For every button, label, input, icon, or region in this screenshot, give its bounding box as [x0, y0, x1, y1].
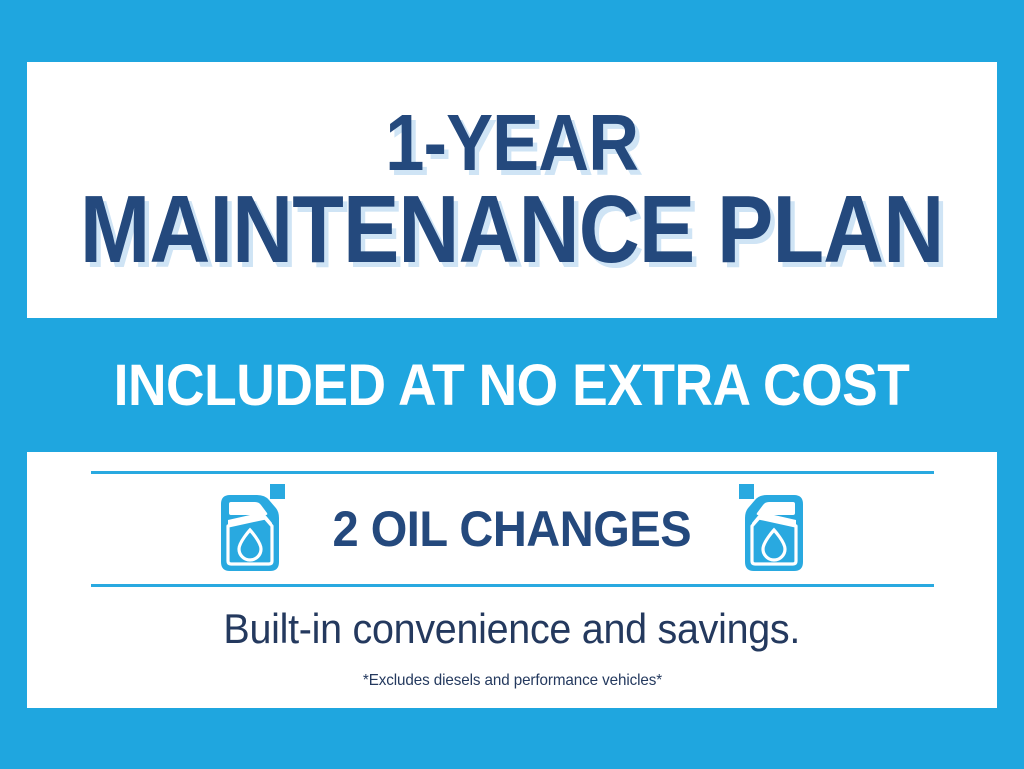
- disclaimer: *Excludes diesels and performance vehicl…: [362, 672, 661, 690]
- tagline: Built-in convenience and savings.: [224, 605, 801, 653]
- title-line-1: 1-YEAR: [386, 106, 639, 180]
- detail-card: 2 OIL CHANGES Built-in convenience and s…: [27, 452, 997, 708]
- oil-can-icon-left: [215, 482, 287, 576]
- title-line-2: MAINTENANCE PLAN: [80, 186, 944, 274]
- maintenance-plan-poster: 1-YEAR MAINTENANCE PLAN INCLUDED AT NO E…: [0, 0, 1024, 769]
- subtitle-band: INCLUDED AT NO EXTRA COST: [0, 318, 1024, 452]
- subtitle-text: INCLUDED AT NO EXTRA COST: [114, 352, 910, 419]
- title-card: 1-YEAR MAINTENANCE PLAN: [27, 62, 997, 318]
- oil-can-icon-right: [737, 482, 809, 576]
- divider-bottom: [91, 584, 934, 587]
- offer-row: 2 OIL CHANGES: [91, 474, 934, 584]
- offer-headline: 2 OIL CHANGES: [333, 500, 692, 558]
